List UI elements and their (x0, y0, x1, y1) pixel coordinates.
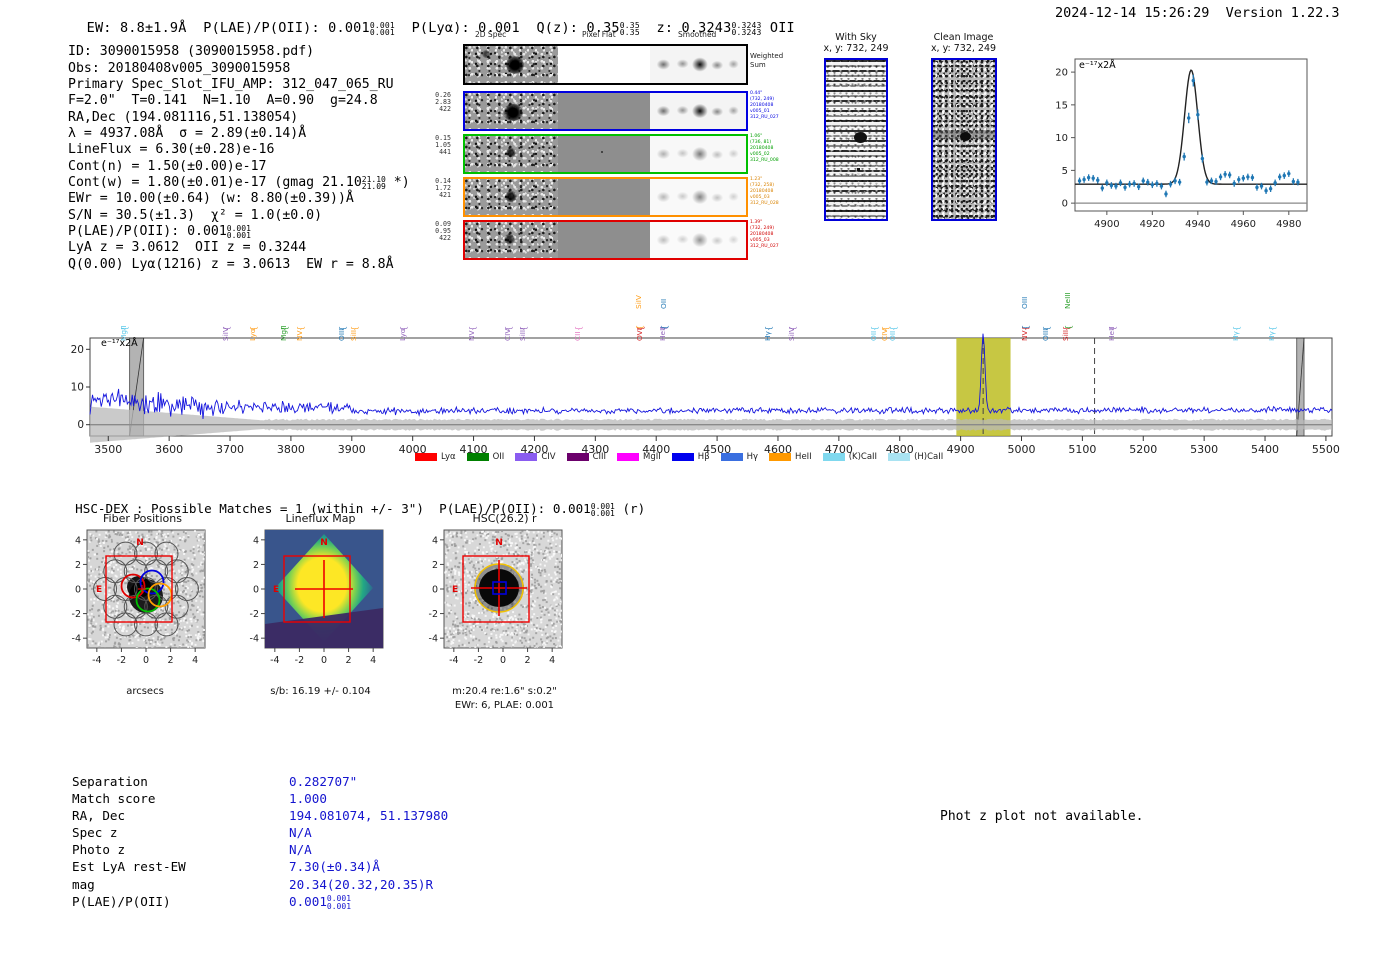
legend-item-4: MgII (617, 452, 661, 462)
svg-text:4980: 4980 (1276, 219, 1301, 230)
legend-label: (K)CaII (849, 452, 877, 462)
full-spectrum-svg: 3500360037003800390040004100420043004400… (60, 276, 1340, 466)
spectrum-legend: LyαOIICIVCIIIMgIIHβHγHeII(K)CaII(H)CaII (415, 452, 943, 462)
emission-line-label-25: NeIII (1063, 292, 1072, 309)
legend-swatch (823, 453, 845, 461)
emission-line-bracket-18: { (870, 326, 879, 331)
summary-z-type: OII (770, 20, 795, 36)
legend-swatch (415, 453, 437, 461)
svg-text:4: 4 (549, 655, 555, 666)
emission-line-bracket-20: { (888, 326, 897, 331)
info-plae-bounds: 0.0010.001 (227, 225, 251, 240)
svg-text:3900: 3900 (338, 443, 366, 456)
svg-text:3700: 3700 (216, 443, 244, 456)
match-row-value-3: N/A (289, 825, 448, 840)
svg-text:2: 2 (75, 560, 81, 571)
svg-text:-4: -4 (250, 634, 259, 645)
legend-label: (H)CaII (914, 452, 943, 462)
legend-swatch (672, 453, 694, 461)
emission-line-bracket-27: { (1232, 326, 1241, 331)
full-spectrum-panel: 3500360037003800390040004100420043004400… (60, 276, 1340, 466)
panel-fiber-positions: Fiber Positions N E -4-4-2-2002244 arcse… (55, 512, 230, 722)
match-row-label-3: Spec z (72, 825, 287, 840)
svg-text:E: E (452, 585, 458, 595)
svg-text:2: 2 (525, 655, 531, 666)
emission-line-bracket-15: { (660, 325, 669, 330)
svg-text:0: 0 (321, 655, 327, 666)
legend-item-5: Hβ (672, 452, 710, 462)
match-table-row: Separation0.282707" (72, 774, 448, 789)
emission-line-label-15: OII (659, 299, 668, 309)
legend-label: CIII (593, 452, 606, 462)
info-line-obs: Obs: 20180408v005_3090015958 (68, 61, 290, 76)
svg-text:5: 5 (1062, 166, 1068, 177)
info-line-radec: RA,Dec (194.081116,51.138054) (68, 110, 298, 125)
emission-line-bracket-16: { (764, 326, 773, 331)
zoom-plot-units-label: e⁻¹⁷x2Å (1079, 60, 1116, 71)
emission-line-bracket-0: { (120, 326, 129, 331)
info-line-specslot: Primary Spec_Slot_IFU_AMP: 312_047_065_R… (68, 77, 394, 92)
svg-text:2: 2 (253, 560, 259, 571)
spec2d-nums-fiber-1: 0.262.83422 (427, 92, 451, 114)
spec2d-row-fiber-3 (463, 177, 748, 217)
legend-label: Lyα (441, 452, 456, 462)
spec2d-col-title-pixelflat: Pixel Flat (582, 30, 616, 39)
spec2d-row-fiber-4 (463, 220, 748, 260)
emission-line-bracket-22: { (1021, 325, 1030, 330)
svg-text:-2: -2 (295, 655, 304, 666)
emission-line-label-27: Hγ (1231, 331, 1240, 341)
svg-text:0: 0 (143, 655, 149, 666)
svg-text:20: 20 (1055, 68, 1068, 79)
detection-info-block: ID: 3090015958 (3090015958.pdf) Obs: 201… (68, 28, 410, 273)
svg-text:-4: -4 (429, 634, 438, 645)
svg-text:4940: 4940 (1185, 219, 1210, 230)
match-detail-table: Separation0.282707"Match score1.000RA, D… (70, 772, 450, 912)
panel-lineflux-map: Lineflux Map N E -4-4-2-2002244 (233, 512, 408, 722)
match-row-value-7: 0.0010.0010.001 (289, 894, 448, 911)
cutout-clean-subtitle: x, y: 732, 249 (911, 43, 1016, 55)
emission-line-bracket-9: { (504, 326, 513, 331)
emission-line-label-4: NV (295, 330, 304, 341)
svg-text:-4: -4 (72, 634, 81, 645)
lineflux-map-title: Lineflux Map (233, 512, 408, 525)
legend-item-0: Lyα (415, 452, 456, 462)
svg-text:4: 4 (192, 655, 198, 666)
weighted-sum-label: Weighted Sum (750, 52, 783, 69)
svg-text:20: 20 (71, 344, 84, 356)
match-row-label-5: Est LyA rest-EW (72, 859, 287, 874)
emission-line-label-6: SiII (349, 330, 358, 341)
fiber-positions-svg[interactable]: N E -4-4-2-2002244 (55, 512, 230, 712)
fiber-positions-xlabel: arcsecs (75, 686, 215, 697)
emission-line-label-20: OII (888, 331, 897, 341)
svg-text:N: N (136, 538, 144, 548)
emission-line-label-18: OII (869, 331, 878, 341)
hsc-r-svg[interactable]: N E -4-4-2-2002244 (412, 512, 597, 712)
spec2d-info-fiber-4: 1.39"(732, 249)20180408v005_03312_RU_027 (750, 220, 796, 250)
info-line-ewr: EWr = 10.00(±0.64) (w: 8.80(±0.39))Å (68, 191, 354, 206)
timestamp-version: 2024-12-14 15:26:29 Version 1.22.3 (1055, 5, 1339, 21)
match-row-label-4: Photo z (72, 842, 287, 857)
spec2d-nums-fiber-2: 0.151.05441 (427, 135, 451, 157)
svg-text:5200: 5200 (1129, 443, 1157, 456)
emission-line-bracket-28: { (1268, 326, 1277, 331)
match-row-value-1: 1.000 (289, 791, 448, 806)
emission-line-bracket-10: { (519, 326, 528, 331)
svg-text:15: 15 (1055, 100, 1068, 111)
svg-text:0: 0 (75, 585, 81, 596)
svg-text:-4: -4 (270, 655, 279, 666)
info-line-z: LyA z = 3.0612 OII z = 0.3244 (68, 240, 306, 255)
lineflux-map-xlabel: s/b: 16.19 +/- 0.104 (233, 686, 408, 697)
svg-text:4900: 4900 (947, 443, 975, 456)
svg-text:2: 2 (168, 655, 174, 666)
emission-line-label-24: SiII (1061, 330, 1070, 341)
info-line-id: ID: 3090015958 (3090015958.pdf) (68, 44, 314, 59)
hsc-r-title: HSC(26.2) r (412, 512, 597, 525)
svg-text:5300: 5300 (1190, 443, 1218, 456)
svg-text:E: E (96, 585, 102, 595)
svg-text:-2: -2 (117, 655, 126, 666)
svg-text:2: 2 (432, 560, 438, 571)
legend-item-7: HeII (769, 452, 812, 462)
match-row-label-7: P(LAE)/P(OII) (72, 894, 287, 911)
info-line-q: Q(0.00) Lyα(1216) z = 3.0613 EW r = 8.8Å (68, 257, 394, 272)
svg-text:0: 0 (253, 585, 259, 596)
svg-text:-2: -2 (429, 609, 438, 620)
info-line-contn: Cont(n) = 1.50(±0.00)e-17 (68, 159, 267, 174)
emission-line-label-28: Hγ (1267, 331, 1276, 341)
hsc-headline-tail: (r) (615, 501, 645, 516)
svg-text:4: 4 (370, 655, 376, 666)
cutout-clean-image-img[interactable] (931, 58, 997, 221)
lineflux-map-svg[interactable]: N E -4-4-2-2002244 (233, 512, 408, 712)
emission-line-bracket-25: { (1064, 325, 1073, 330)
match-row-label-0: Separation (72, 774, 287, 789)
match-table-row: Photo zN/A (72, 842, 448, 857)
legend-label: CIV (541, 452, 555, 462)
spec2d-row-fiber-2 (463, 134, 748, 174)
emission-line-bracket-11: { (574, 326, 583, 331)
match-row-value-0: 0.282707" (289, 774, 448, 789)
svg-text:E: E (273, 585, 279, 595)
match-table-row: Est LyA rest-EW7.30(±0.34)Å (72, 859, 448, 874)
svg-text:2: 2 (346, 655, 352, 666)
cutout-with-sky-image[interactable] (824, 58, 888, 221)
legend-swatch (515, 453, 537, 461)
info-line-sn: S/N = 30.5(±1.3) χ² = 1.0(±0.0) (68, 208, 322, 223)
legend-swatch (467, 453, 489, 461)
spec2d-nums-fiber-3: 0.141.72421 (427, 178, 451, 200)
emission-line-bracket-26: { (1108, 326, 1117, 331)
cutout-clean-image: Clean Image x, y: 732, 249 (911, 32, 1016, 252)
emission-line-label-16: Hγ (763, 331, 772, 341)
info-line-plae: P(LAE)/P(OII): 0.001 (68, 224, 227, 239)
spec2d-info-fiber-3: 1.23"(732, 258)20180408v005_03312_RU_028 (750, 177, 796, 207)
svg-text:3500: 3500 (94, 443, 122, 456)
emission-line-bracket-8: { (468, 326, 477, 331)
legend-label: MgII (643, 452, 661, 462)
info-line-ftna: F=2.0" T=0.141 N=1.10 A=0.90 g=24.8 (68, 93, 378, 108)
spec2d-info-fiber-2: 1.06"(736, 81)20180408v005_02312_RU_008 (750, 134, 796, 164)
legend-item-6: Hγ (721, 452, 758, 462)
legend-item-9: (H)CaII (888, 452, 943, 462)
legend-item-1: OII (467, 452, 505, 462)
svg-text:4900: 4900 (1094, 219, 1119, 230)
info-line-lambda: λ = 4937.08Å σ = 2.89(±0.14)Å (68, 126, 306, 141)
emission-line-label-22: OIII (1020, 297, 1029, 309)
emission-line-label-11: CII (573, 331, 582, 341)
match-row-value-4: N/A (289, 842, 448, 857)
svg-text:-2: -2 (474, 655, 483, 666)
match-row-label-1: Match score (72, 791, 287, 806)
emission-line-bracket-6: { (350, 326, 359, 331)
legend-item-8: (K)CaII (823, 452, 877, 462)
emission-line-label-21: NV (1020, 330, 1029, 341)
legend-label: Hβ (698, 452, 710, 462)
match-row-value-6: 20.34(20.32,20.35)R (289, 877, 448, 892)
svg-text:-4: -4 (449, 655, 458, 666)
emission-line-bracket-1: { (222, 326, 231, 331)
emission-line-bracket-5: { (338, 326, 347, 331)
legend-label: HeII (795, 452, 812, 462)
svg-text:5500: 5500 (1312, 443, 1340, 456)
emission-line-bracket-4: { (296, 326, 305, 331)
legend-swatch (617, 453, 639, 461)
svg-text:3600: 3600 (155, 443, 183, 456)
svg-text:3800: 3800 (277, 443, 305, 456)
info-line-contw: Cont(w) = 1.80(±0.01)e-17 (gmag 21.10 (68, 175, 362, 190)
svg-text:-2: -2 (250, 609, 259, 620)
spec2d-row-weighted-sum (463, 44, 748, 85)
svg-text:4960: 4960 (1231, 219, 1256, 230)
match-row-label-2: RA, Dec (72, 808, 287, 823)
legend-swatch (888, 453, 910, 461)
svg-text:0: 0 (1062, 199, 1068, 210)
svg-text:0: 0 (432, 585, 438, 596)
emission-line-label-8: NV (467, 330, 476, 341)
svg-text:-2: -2 (72, 609, 81, 620)
match-row-bounds-7: 0.0010.001 (327, 895, 351, 910)
svg-text:5100: 5100 (1068, 443, 1096, 456)
emission-line-bracket-2: { (249, 326, 258, 331)
legend-item-3: CIII (567, 452, 606, 462)
match-table-row: mag20.34(20.32,20.35)R (72, 877, 448, 892)
legend-item-2: CIV (515, 452, 555, 462)
emission-line-bracket-13: { (635, 325, 644, 330)
hsc-r-caption2: EWr: 6, PLAE: 0.001 (412, 700, 597, 711)
cutout-with-sky: With Sky x, y: 732, 249 (806, 32, 906, 252)
svg-text:N: N (320, 538, 328, 548)
svg-text:10: 10 (71, 382, 84, 394)
svg-text:5000: 5000 (1008, 443, 1036, 456)
match-table-row: RA, Dec194.081074, 51.137980 (72, 808, 448, 823)
gmag-tail: *) (386, 175, 410, 190)
emission-line-bracket-7: { (399, 326, 408, 331)
match-table-row: P(LAE)/P(OII)0.0010.0010.001 (72, 894, 448, 911)
cutout-with-sky-subtitle: x, y: 732, 249 (806, 43, 906, 55)
match-row-label-6: mag (72, 877, 287, 892)
svg-text:5400: 5400 (1251, 443, 1279, 456)
emission-line-zoom-plot: 4900492049404960498005101520 e⁻¹⁷x2Å (1035, 55, 1320, 220)
spec2d-panel-group: 2D Spec Pixel Flat Smoothed Weighted Sum (420, 30, 760, 250)
panel-hsc-r: HSC(26.2) r N E -4-4-2-2002244 m:20.4 re… (412, 512, 597, 737)
spec2d-row-fiber-1 (463, 91, 748, 131)
match-row-value-2: 194.081074, 51.137980 (289, 808, 448, 823)
emission-line-bracket-23: { (1042, 326, 1051, 331)
emission-line-zoom-svg: 4900492049404960498005101520 (1035, 55, 1320, 255)
spec2d-col-title-smoothed: Smoothed (678, 30, 716, 39)
legend-swatch (721, 453, 743, 461)
svg-text:0: 0 (77, 419, 84, 431)
legend-label: Hγ (747, 452, 758, 462)
photoz-message: Phot z plot not available. (940, 809, 1144, 824)
legend-swatch (769, 453, 791, 461)
hsc-r-xlabel: m:20.4 re:1.6" s:0.2" (412, 686, 597, 697)
svg-text:4: 4 (75, 535, 81, 546)
svg-text:10: 10 (1055, 133, 1068, 144)
svg-text:-4: -4 (92, 655, 101, 666)
match-table-row: Match score1.000 (72, 791, 448, 806)
spec2d-info-fiber-1: 0.44"(732, 249)20180408v005_01312_RU_027 (750, 91, 796, 121)
spec2d-col-title-2dspec: 2D Spec (475, 30, 506, 39)
emission-line-bracket-17: { (788, 326, 797, 331)
cutout-with-sky-title: With Sky (806, 32, 906, 44)
legend-label: OII (493, 452, 505, 462)
info-line-lineflux: LineFlux = 6.30(±0.28)e-16 (68, 142, 274, 157)
spec2d-nums-fiber-4: 0.090.95422 (427, 221, 451, 243)
svg-text:4920: 4920 (1140, 219, 1165, 230)
match-row-value-5: 7.30(±0.34)Å (289, 859, 448, 874)
emission-line-label-13: SiIV (634, 295, 643, 309)
cutout-clean-title: Clean Image (911, 32, 1016, 44)
svg-text:N: N (495, 538, 503, 548)
legend-swatch (567, 453, 589, 461)
gmag-bounds: 21.1021.09 (362, 176, 386, 191)
emission-line-bracket-3: { (280, 326, 289, 331)
svg-text:4: 4 (432, 535, 438, 546)
match-table-row: Spec zN/A (72, 825, 448, 840)
svg-text:0: 0 (500, 655, 506, 666)
fiber-positions-title: Fiber Positions (55, 512, 230, 525)
svg-text:4: 4 (253, 535, 259, 546)
